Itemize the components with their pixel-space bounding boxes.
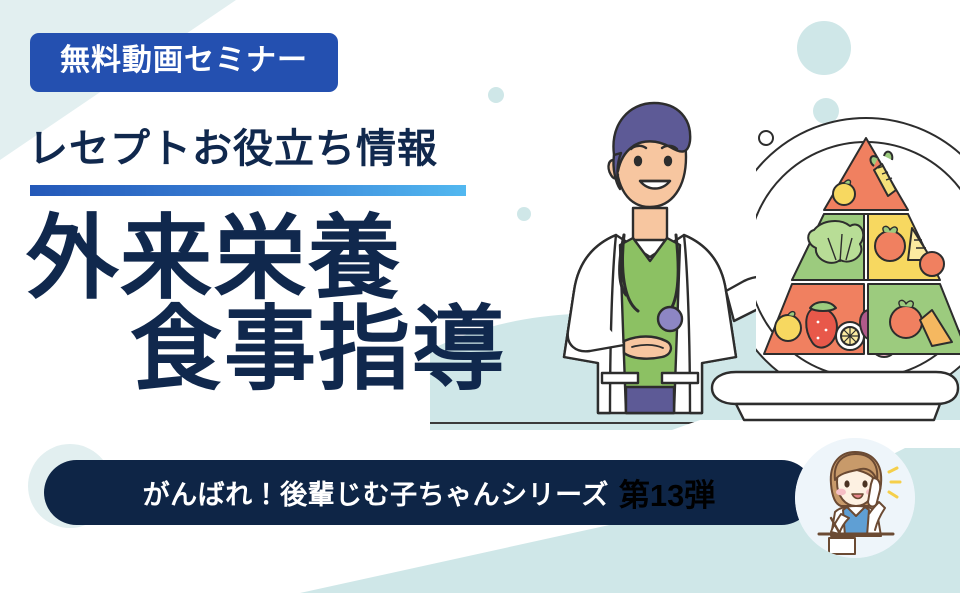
food-pyramid-illustration	[756, 110, 960, 410]
subtitle-text: レセプトお役立ち情報	[28, 129, 438, 169]
series-ribbon: がんばれ！後輩じむ子ちゃんシリーズ 第13弾	[44, 460, 814, 525]
seminar-badge: 無料動画セミナー	[30, 33, 338, 92]
page-title: 外来栄養 食事指導	[26, 214, 506, 396]
promo-banner: 無料動画セミナー レセプトお役立ち情報 外来栄養 食事指導 がんばれ！後輩じむ子…	[0, 0, 960, 593]
subtitle-underline	[30, 185, 466, 196]
series-ribbon-label: がんばれ！後輩じむ子ちゃんシリーズ	[143, 473, 609, 512]
series-volume-label: 第13弾	[619, 470, 715, 515]
headline-line-2: 食事指導	[26, 305, 506, 396]
office-worker-mascot-illustration	[795, 438, 915, 558]
headline-line-1: 外来栄養	[26, 208, 402, 310]
